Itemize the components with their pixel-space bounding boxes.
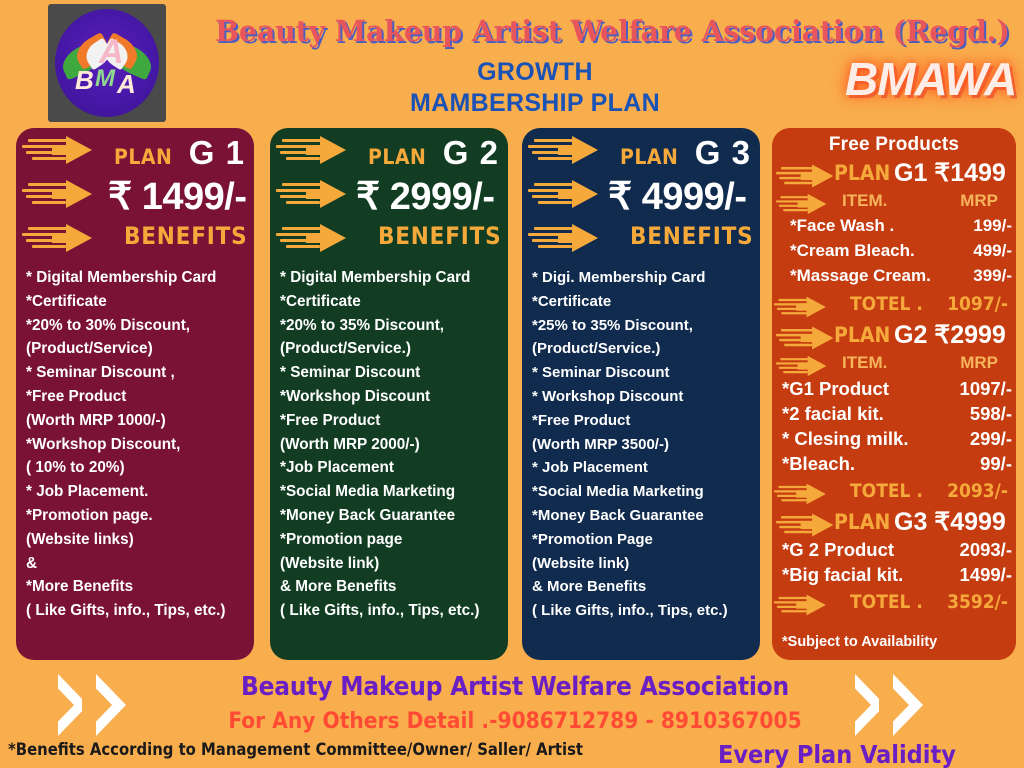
brandmark-bmawa: BMAWA xyxy=(845,52,1016,106)
item-price: 1499/- xyxy=(960,564,1012,586)
plan-word: PLAN xyxy=(834,510,890,534)
arrow-icon xyxy=(776,194,839,214)
item-price: 499/- xyxy=(973,241,1012,261)
arrow-icon xyxy=(276,136,364,164)
table-row: *Face Wash . 199/- xyxy=(772,216,1016,241)
item-price: 99/- xyxy=(980,453,1012,475)
bmawa-logo: A B M A xyxy=(48,4,166,122)
free-products-columns-g2: ITEM. MRP xyxy=(772,352,1016,378)
plan-word: PLAN xyxy=(114,145,172,169)
item-price: 598/- xyxy=(970,403,1012,425)
table-row: *Big facial kit. 1499/- xyxy=(772,564,1016,589)
list-item: *Free Product xyxy=(532,409,752,433)
list-item: *Certificate xyxy=(26,290,246,314)
list-item: *Free Product xyxy=(280,409,500,433)
total-row-g1: TOTEL . 1097/- xyxy=(772,291,1016,318)
list-item: * Seminar Discount , xyxy=(26,361,246,385)
list-item: * Digital Membership Card xyxy=(26,266,246,290)
plan-card-g2[interactable]: PLAN G 2 ₹ 2999/- BENEFITS * Digital Mem… xyxy=(270,128,508,660)
table-row: *G 2 Product 2093/- xyxy=(772,539,1016,564)
free-products-title: Free Products xyxy=(772,128,1016,156)
list-item: * Digi. Membership Card xyxy=(532,266,752,290)
item-price: 199/- xyxy=(973,216,1012,236)
list-item: *Workshop Discount xyxy=(280,385,500,409)
list-item: * Seminar Discount xyxy=(532,361,752,385)
plan-price-row: ₹ 4999/- xyxy=(522,172,760,216)
column-header-mrp: MRP xyxy=(960,191,998,211)
logo-letter-b: B xyxy=(75,67,94,93)
benefits-heading: BENEFITS xyxy=(630,222,754,250)
logo-letter-a-top: A xyxy=(99,35,124,69)
plan-word: PLAN xyxy=(368,145,426,169)
free-products-panel[interactable]: Free Products PLAN G1 ₹1499 ITEM. MRP *F… xyxy=(772,128,1016,660)
list-item: *Workshop Discount, xyxy=(26,433,246,457)
arrow-icon xyxy=(528,180,616,208)
table-row: * Clesing milk. 299/- xyxy=(772,428,1016,453)
item-name: *Face Wash . xyxy=(790,216,894,236)
arrow-icon xyxy=(22,224,110,252)
item-name: * Clesing milk. xyxy=(782,428,908,450)
poster-footer: Beauty Makeup Artist Welfare Association… xyxy=(0,668,1024,768)
footer-disclaimer: *Benefits According to Management Commit… xyxy=(8,740,583,759)
total-row-g2: TOTEL . 2093/- xyxy=(772,478,1016,505)
table-row: *Bleach. 99/- xyxy=(772,453,1016,478)
plan-price-row: ₹ 2999/- xyxy=(270,172,508,216)
plan-word: PLAN xyxy=(834,323,890,347)
plan-code: G 1 xyxy=(189,134,245,171)
total-label: TOTEL . xyxy=(850,480,923,502)
plan-code: G1 ₹1499 xyxy=(894,158,1006,188)
list-item: *20% to 35% Discount, xyxy=(280,314,500,338)
plan-code: G 3 xyxy=(695,134,751,171)
plan-header-row: PLAN G 3 xyxy=(522,128,760,172)
benefits-heading: BENEFITS xyxy=(124,222,248,250)
list-item: *Social Media Marketing xyxy=(280,480,500,504)
chevron-right-icon xyxy=(855,674,965,736)
list-item: (Product/Service.) xyxy=(280,337,500,361)
arrow-icon xyxy=(276,224,364,252)
plan-price-row: ₹ 1499/- xyxy=(16,172,254,216)
item-name: *G1 Product xyxy=(782,378,889,400)
table-row: *Massage Cream. 399/- xyxy=(772,266,1016,291)
list-item: *Certificate xyxy=(532,290,752,314)
total-row-g3: TOTEL . 3592/- xyxy=(772,589,1016,616)
total-value: 1097/- xyxy=(947,293,1008,315)
benefits-header-row: BENEFITS xyxy=(270,216,508,260)
list-item: (Worth MRP 2000/-) xyxy=(280,433,500,457)
list-item: (Website link) xyxy=(532,552,752,576)
footer-validity: Every Plan Validity 1Year xyxy=(718,740,1024,768)
list-item: & xyxy=(26,552,246,576)
free-products-plan-row-g3: PLAN G3 ₹4999 xyxy=(772,507,1016,539)
arrow-icon xyxy=(776,356,839,376)
list-item: & More Benefits xyxy=(532,575,752,599)
list-item: * Seminar Discount xyxy=(280,361,500,385)
benefits-list-g2: * Digital Membership Card *Certificate *… xyxy=(270,260,508,623)
list-item: * Job Placement. xyxy=(26,480,246,504)
availability-note: *Subject to Availability xyxy=(782,634,937,650)
arrow-icon xyxy=(276,180,364,208)
list-item: (Product/Service.) xyxy=(532,337,752,361)
list-item: *Free Product xyxy=(26,385,246,409)
footer-contact[interactable]: For Any Others Detail .-9086712789 - 891… xyxy=(190,708,840,734)
list-item: *More Benefits xyxy=(26,575,246,599)
benefits-heading: BENEFITS xyxy=(378,222,502,250)
plan-code: G3 ₹4999 xyxy=(894,507,1006,537)
plan-header-row: PLAN G 1 xyxy=(16,128,254,172)
column-header-item: ITEM. xyxy=(842,353,887,373)
subtitle-line-2: MAMBERSHIP PLAN xyxy=(390,88,680,119)
plan-label-line: PLAN G 1 xyxy=(114,134,245,172)
item-price: 299/- xyxy=(970,428,1012,450)
free-products-plan-row-g1: PLAN G1 ₹1499 xyxy=(772,158,1016,190)
list-item: * Digital Membership Card xyxy=(280,266,500,290)
list-item: *20% to 30% Discount, xyxy=(26,314,246,338)
list-item: * Workshop Discount xyxy=(532,385,752,409)
arrow-icon xyxy=(528,136,616,164)
list-item: *25% to 35% Discount, xyxy=(532,314,752,338)
list-item: *Social Media Marketing xyxy=(532,480,752,504)
list-item: *Certificate xyxy=(280,290,500,314)
column-header-mrp: MRP xyxy=(960,353,998,373)
list-item: ( Like Gifts, info., Tips, etc.) xyxy=(280,599,500,623)
arrow-icon xyxy=(774,297,839,318)
list-item: (Website links) xyxy=(26,528,246,552)
item-name: *G 2 Product xyxy=(782,539,894,561)
list-item: *Promotion page xyxy=(280,528,500,552)
plan-price: ₹ 4999/- xyxy=(608,174,746,219)
benefits-header-row: BENEFITS xyxy=(16,216,254,260)
plan-label-line: PLAN G 3 xyxy=(620,134,751,172)
subtitle-line-1: GROWTH xyxy=(390,57,680,88)
logo-circle: A B M A xyxy=(55,9,159,117)
list-item: (Worth MRP 1000/-) xyxy=(26,409,246,433)
table-row: *2 facial kit. 598/- xyxy=(772,403,1016,428)
list-item: *Money Back Guarantee xyxy=(280,504,500,528)
table-row: *Cream Bleach. 499/- xyxy=(772,241,1016,266)
plan-header-row: PLAN G 2 xyxy=(270,128,508,172)
column-header-item: ITEM. xyxy=(842,191,887,211)
item-price: 2093/- xyxy=(960,539,1012,561)
free-products-columns-g1: ITEM. MRP xyxy=(772,190,1016,216)
plan-cards-row: PLAN G 1 ₹ 1499/- BENEFITS * Digital Mem… xyxy=(0,128,1024,668)
list-item: & More Benefits xyxy=(280,575,500,599)
list-item: ( Like Gifts, info., Tips, etc.) xyxy=(26,599,246,623)
arrow-icon xyxy=(774,484,839,505)
plan-price: ₹ 1499/- xyxy=(108,174,246,219)
list-item: (Product/Service) xyxy=(26,337,246,361)
list-item: *Money Back Guarantee xyxy=(532,504,752,528)
arrow-icon xyxy=(22,180,110,208)
item-name: *Massage Cream. xyxy=(790,266,931,286)
arrow-icon xyxy=(774,595,839,616)
item-price: 1097/- xyxy=(960,378,1012,400)
list-item: (Website link) xyxy=(280,552,500,576)
arrow-icon xyxy=(22,136,110,164)
list-item: *Job Placement xyxy=(280,456,500,480)
list-item: *Promotion Page xyxy=(532,528,752,552)
benefits-header-row: BENEFITS xyxy=(522,216,760,260)
poster-title: Beauty Makeup Artist Welfare Association… xyxy=(215,14,985,48)
item-name: *Cream Bleach. xyxy=(790,241,915,261)
item-price: 399/- xyxy=(973,266,1012,286)
poster-header: A B M A Beauty Makeup Artist Welfare Ass… xyxy=(0,0,1024,128)
benefits-list-g3: * Digi. Membership Card *Certificate *25… xyxy=(522,260,760,623)
benefits-list-g1: * Digital Membership Card *Certificate *… xyxy=(16,260,254,623)
plan-code: G2 ₹2999 xyxy=(894,320,1006,350)
plan-label-line: PLAN G 2 xyxy=(368,134,499,172)
plan-word: PLAN xyxy=(834,161,890,185)
poster-subtitle: GROWTH MAMBERSHIP PLAN xyxy=(390,57,680,118)
total-value: 3592/- xyxy=(947,591,1008,613)
list-item: ( 10% to 20%) xyxy=(26,456,246,480)
footer-organization: Beauty Makeup Artist Welfare Association xyxy=(190,672,840,702)
logo-letter-a-bottom: A xyxy=(117,71,136,97)
total-label: TOTEL . xyxy=(850,293,923,315)
table-row: *G1 Product 1097/- xyxy=(772,378,1016,403)
list-item: * Job Placement xyxy=(532,456,752,480)
item-name: *2 facial kit. xyxy=(782,403,884,425)
plan-code: G 2 xyxy=(443,134,499,171)
free-products-plan-row-g2: PLAN G2 ₹2999 xyxy=(772,320,1016,352)
total-value: 2093/- xyxy=(947,480,1008,502)
chevron-right-icon xyxy=(58,674,168,736)
plan-word: PLAN xyxy=(620,145,678,169)
item-name: *Big facial kit. xyxy=(782,564,903,586)
arrow-icon xyxy=(528,224,616,252)
item-name: *Bleach. xyxy=(782,453,855,475)
plan-card-g3[interactable]: PLAN G 3 ₹ 4999/- BENEFITS * Digi. Membe… xyxy=(522,128,760,660)
plan-card-g1[interactable]: PLAN G 1 ₹ 1499/- BENEFITS * Digital Mem… xyxy=(16,128,254,660)
list-item: ( Like Gifts, info., Tips, etc.) xyxy=(532,599,752,623)
logo-letter-m: M xyxy=(95,67,115,91)
total-label: TOTEL . xyxy=(850,591,923,613)
plan-price: ₹ 2999/- xyxy=(356,174,494,219)
list-item: *Promotion page. xyxy=(26,504,246,528)
list-item: (Worth MRP 3500/-) xyxy=(532,433,752,457)
